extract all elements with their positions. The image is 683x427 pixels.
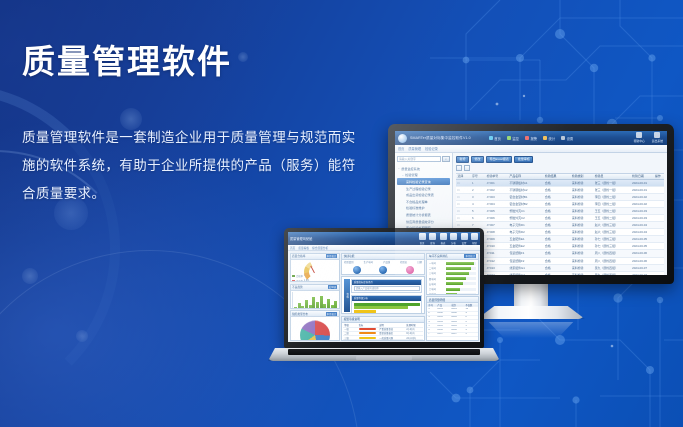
pyramid-chart [353, 302, 420, 315]
logout-label: 退出系统 [652, 139, 663, 143]
table-cell: 王五（质检二组） [593, 216, 630, 220]
table-cell: 铝合金型材B2 [508, 202, 543, 206]
topnav-item-monitor[interactable]: 监控 [507, 136, 519, 141]
table-cell: 合格 [543, 216, 570, 220]
trend-bars [294, 292, 337, 309]
table-cell: □ [456, 181, 471, 185]
tree-item-supplier-score[interactable]: 供应商质量绩效评分 [397, 218, 450, 225]
dashboard-right-column: 车间不良率排名 本月统计 一车间二车间三车间四车间五车间六车间七车间八车间九车间… [426, 253, 478, 341]
bar-row: 三车间 [429, 271, 476, 275]
batch-approve-button[interactable]: 批量审核 [514, 156, 533, 163]
table-cell: 2024-03-06 [631, 251, 654, 255]
table-cell: 来料检验 [570, 216, 593, 220]
table-cell: 赵六（质检三组） [593, 223, 630, 227]
table-cell: 9 [464, 312, 477, 314]
pyramid-band [354, 310, 376, 313]
table-cell: 2024-03-06 [631, 259, 654, 263]
card-chip[interactable]: 本月统计 [464, 254, 476, 258]
logout-icon [654, 132, 660, 138]
monitor-stand-base [477, 306, 585, 319]
report-icon [440, 233, 447, 240]
table-cell: 五金配件E2 [508, 244, 543, 248]
bar-track [446, 277, 476, 280]
table-cell: 来料检验 [570, 195, 593, 199]
table-cell: 合格 [543, 209, 570, 213]
table-row[interactable]: □1JY001不锈钢板材A1合格来料检验张三（质检一组）2024-03-01 [456, 180, 664, 187]
topnav-item-home[interactable]: 首页 [489, 136, 501, 141]
column-header: 检验结果 [543, 174, 570, 178]
table-cell: 不锈钢板材A2 [508, 188, 543, 192]
monitor-icon [507, 136, 511, 140]
table-row[interactable]: □13JY013线束组件G1合格来料检验吴九（质检四组）2024-03-07 [456, 265, 664, 272]
table-cell [358, 332, 379, 334]
dashboard-topbar: 质量管理驾驶舱 首页 查询 报表 [288, 232, 480, 245]
tree-item-incoming-inspection[interactable]: 来料检验记录查询 [397, 178, 450, 185]
laptop-lid: 质量管理驾驶舱 首页 查询 报表 [284, 228, 484, 348]
pyramid-band [354, 306, 408, 309]
table-cell: B004 [450, 321, 464, 323]
desktop-app-topright: 帮助中心 退出系统 [634, 132, 663, 143]
laptop: 质量管理驾驶舱 首页 查询 报表 [284, 228, 484, 361]
sidebar-search: 请输入关键字 ⌕ [397, 156, 450, 162]
topnav-item-stats[interactable]: 统计 [543, 136, 555, 141]
legend-label: 不良率 [296, 279, 303, 283]
table-cell: 线束组件G2 [508, 273, 543, 275]
column-header: 操作 [654, 174, 664, 178]
bar-track [446, 272, 476, 275]
card-defect-trend: 不良趋势 近30天 [290, 284, 340, 309]
bar-fill [446, 288, 460, 291]
table-cell: JY012 [485, 259, 508, 263]
table-cell: 铝合金型材B1 [508, 195, 543, 199]
quick-button-finished[interactable]: 成品检验 [405, 266, 415, 275]
tree-item-quality-system[interactable]: − 质量监控系统 [397, 165, 450, 172]
bar [298, 303, 301, 308]
gauge-chart [304, 261, 326, 273]
bar-label: 五车间 [429, 282, 445, 286]
table-cell: 2024-03-02 [631, 202, 654, 206]
bar-fill [446, 262, 474, 265]
table-cell: 来料检验 [570, 237, 593, 241]
table-cell: 张三（质检一组） [593, 188, 630, 192]
dashboard-home-button[interactable]: 首页 [419, 233, 426, 245]
table-cell: 李四（质检二组） [593, 195, 630, 199]
tree-item-nonconforming[interactable]: 不合格品处理单 [397, 198, 450, 205]
desktop-app-title: SMARTer质量对标集中监控软件V1.0 [410, 136, 471, 141]
tree-item-label: 生产过程检验记录 [406, 186, 431, 191]
bar [305, 300, 308, 309]
dashboard-left-column: 质量合格率 本月统计 [290, 253, 340, 341]
tree-item-label: 来料检验记录查询 [406, 179, 431, 184]
table-row[interactable]: □2JY002不锈钢板材A2合格来料检验张三（质检一组）2024-03-01 [456, 187, 664, 194]
table-cell: 线束组件G1 [508, 266, 543, 270]
column-header: 检验日期 [631, 174, 654, 178]
bar [316, 302, 319, 309]
export-excel-button[interactable]: 导出Excel报表 [486, 156, 512, 163]
table-cell: 来料检验 [570, 244, 593, 248]
table-cell: 2 [427, 312, 436, 314]
table-cell: 3 [427, 316, 436, 318]
topnav-label: 统计 [549, 136, 556, 141]
alarm-level-table: 等级 色标 说明 处理时限 一级严重质量事故2小时内二级重要质量偏差8小时内三级… [343, 323, 423, 340]
table-cell: 五金配件E1 [508, 237, 543, 241]
dashboard-help-button[interactable]: 帮助 [471, 233, 478, 245]
table-cell: 吴九（质检四组） [593, 273, 630, 275]
table-cell: B007 [450, 333, 464, 335]
tree-item-label: 质量统计分析报表 [406, 212, 431, 217]
tree-item-label: 成品出货检验记录表 [406, 192, 434, 197]
table-cell: □ [456, 188, 471, 192]
table-cell: □ [456, 202, 471, 206]
card-chip[interactable]: 本月统计 [326, 254, 338, 258]
table-cell: JY003 [485, 195, 508, 199]
quick-button-process[interactable]: 过程检验 [378, 266, 388, 275]
table-cell: 合格 [543, 273, 570, 275]
edit-button[interactable]: 修改 [471, 156, 484, 163]
table-cell: B001 [450, 308, 464, 310]
table-cell: 来料检验 [570, 209, 593, 213]
table-cell: 来料检验 [570, 266, 593, 270]
bar-row: 五车间 [429, 282, 476, 286]
horizontal-bar-chart: 一车间二车间三车间四车间五车间六车间七车间八车间九车间 [429, 261, 476, 295]
table-row[interactable]: □14JY014线束组件G2合格来料检验吴九（质检四组）2024-03-07 [456, 272, 664, 275]
table-cell: 来料检验 [570, 202, 593, 206]
table-cell: 合格 [543, 244, 570, 248]
table-cell: 7 [471, 223, 486, 227]
card-title: 报警等级说明 [344, 317, 360, 321]
bar [334, 301, 337, 308]
query-submit-button[interactable]: 查询 [412, 313, 420, 315]
table-cell: 2024-03-01 [631, 188, 654, 192]
laptop-keyboard[interactable] [288, 349, 480, 355]
tree-item-standards[interactable]: 检验标准维护 [397, 205, 450, 212]
color-swatch [359, 332, 377, 334]
table-cell: JY010 [485, 244, 508, 248]
product-search-input[interactable]: 请输入产品编号或名称 [354, 286, 420, 291]
table-cell: JY011 [485, 251, 508, 255]
table-cell: 包装纸箱F2 [508, 259, 543, 263]
legend-label: 合格率 [296, 274, 303, 278]
table-cell: 1 [471, 181, 486, 185]
breadcrumb-item[interactable]: 检验记录 [425, 146, 438, 151]
card-title: 质量合格率 [292, 254, 305, 258]
table-cell: 合格 [543, 195, 570, 199]
help-center-button[interactable]: 帮助中心 [634, 132, 645, 143]
filter-chip[interactable]: 日期 [417, 260, 422, 264]
bar [312, 297, 315, 308]
table-cell: JY002 [485, 188, 508, 192]
table-row[interactable]: 7A107B0073 [427, 333, 477, 337]
monitor-neck [514, 284, 548, 306]
color-swatch [359, 328, 377, 330]
table-cell: 来料检验 [570, 259, 593, 263]
bar-track [446, 267, 476, 270]
pyramid-panel: 质量等级分布 查询 [351, 295, 422, 315]
table-cell: 合格 [543, 266, 570, 270]
column-header: 序号 [427, 303, 436, 307]
card-defect-distribution: 缺陷类型分布 本月统计 外观缺陷32%尺寸偏差26%功能异常18%包装问题14%… [290, 310, 340, 340]
bar-row: 二车间 [429, 266, 476, 270]
dashboard-icon-row: 首页 查询 报表 分析 [419, 233, 479, 245]
dashboard-middle-column: 快捷功能 检验类别 生产车间 产品线 检验员 日期 [341, 253, 425, 341]
home-icon [489, 136, 493, 140]
analysis-icon [450, 233, 457, 240]
column-header: 产品名称 [508, 174, 543, 178]
table-cell: 合格 [543, 188, 570, 192]
bar [301, 306, 304, 309]
process-icon [379, 266, 387, 274]
table-row[interactable]: □3JY003铝合金型材B1合格来料检验李四（质检二组）2024-03-02 [456, 194, 664, 201]
table-cell: 合格 [543, 202, 570, 206]
table-cell: 2024-03-04 [631, 230, 654, 234]
search-icon[interactable]: ⌕ [442, 156, 450, 162]
table-cell: □ [456, 209, 471, 213]
table-row[interactable]: □12JY012包装纸箱F2合格来料检验周八（质检四组）2024-03-06 [456, 258, 664, 265]
table-cell: 2024-03-03 [631, 216, 654, 220]
table-cell: B003 [450, 316, 464, 318]
laptop-trackpad[interactable] [356, 356, 412, 360]
table-row[interactable]: □9JY009五金配件E1合格来料检验孙七（质检三组）2024-03-05 [456, 236, 664, 243]
card-quality-pass-rate: 质量合格率 本月统计 [290, 253, 340, 283]
table-cell: A107 [436, 333, 450, 335]
page-title: 质量管理软件 [22, 44, 372, 80]
table-cell: B005 [450, 325, 464, 327]
table-cell: 2024-03-01 [631, 181, 654, 185]
desktop-app-topnav: 首页 监控 报警 统计 [489, 136, 573, 141]
level-side-strip: 等级 [344, 279, 350, 312]
table-row[interactable]: □11JY011包装纸箱F1合格来料检验周八（质检四组）2024-03-06 [456, 250, 664, 257]
card-body: 序号 产品 批次 不良数 1A101B001122A102B00293A103B… [427, 303, 477, 339]
table-cell: 来料检验 [570, 230, 593, 234]
column-header: 不良数 [464, 303, 477, 307]
card-chip[interactable]: 本月统计 [326, 312, 338, 316]
column-header: 检验单号 [485, 174, 508, 178]
table-cell: 合格 [543, 181, 570, 185]
bar [327, 299, 330, 309]
table-row[interactable]: □8JY008电子元件D2合格来料检验赵六（质检三组）2024-03-04 [456, 229, 664, 236]
color-swatch [359, 337, 377, 339]
bar-row: 一车间 [429, 261, 476, 265]
tree-item-statistics[interactable]: 质量统计分析报表 [397, 211, 450, 218]
filter-chip[interactable]: 检验员 [400, 260, 407, 264]
dashboard-report-button[interactable]: 报表 [440, 233, 447, 245]
help-icon [636, 132, 642, 138]
table-cell: 12 [464, 308, 477, 310]
table-cell: 8 [464, 316, 477, 318]
filter-chip[interactable]: 产品线 [383, 260, 390, 264]
table-cell: JY013 [485, 266, 508, 270]
breadcrumb-item[interactable]: 首页 [290, 246, 295, 250]
topnav-label: 报警 [530, 136, 537, 141]
card-body: 等级 色标 说明 处理时限 一级严重质量事故2小时内二级重要质量偏差8小时内三级… [342, 323, 424, 340]
table-row[interactable]: □10JY010五金配件E2合格来料检验孙七（质检三组）2024-03-05 [456, 243, 664, 250]
monitor-reflection [483, 322, 579, 338]
table-cell: 2024-03-07 [631, 273, 654, 275]
column-header: 色标 [358, 323, 379, 327]
checkbox-icon[interactable] [456, 165, 462, 171]
laptop-base [268, 348, 500, 361]
dashboard-settings-button[interactable]: 设置 [461, 233, 468, 245]
filter-chip[interactable]: 生产车间 [364, 260, 373, 264]
table-cell: 6 [464, 321, 477, 323]
table-cell: 周八（质检四组） [593, 251, 630, 255]
query-panel: 质量指标查询条件 请输入产品编号或名称 [351, 279, 422, 294]
icon-label: 设置 [462, 241, 467, 245]
topnav-item-alert[interactable]: 报警 [525, 136, 537, 141]
tree-item-process-inspection[interactable]: 生产过程检验记录 [397, 185, 450, 192]
icon-label: 首页 [420, 241, 425, 245]
bar-row: 四车间 [429, 277, 476, 281]
home-icon [419, 233, 426, 240]
breadcrumb: 首页 质量管理 检验记录 [395, 145, 667, 153]
bar-label: 三车间 [429, 271, 445, 275]
card-chip[interactable]: 近30天 [328, 285, 337, 289]
icon-label: 帮助 [472, 241, 477, 245]
table-cell: JY001 [485, 181, 508, 185]
breadcrumb-item[interactable]: 质量管理 [408, 146, 421, 151]
table-cell: 电子元件D1 [508, 223, 543, 227]
bar-label: 四车间 [429, 277, 445, 281]
pie-chart [300, 320, 330, 340]
column-header: 检验员 [593, 174, 630, 178]
table-cell: 来料检验 [570, 223, 593, 227]
side-strip-label: 等级 [345, 293, 349, 298]
legend-swatch [292, 280, 295, 282]
table-cell: 6 [427, 329, 436, 331]
query-panel-body: 请输入产品编号或名称 [352, 285, 421, 293]
table-cell: 电子元件D2 [508, 230, 543, 234]
table-cell: 来料检验 [570, 251, 593, 255]
table-cell: 2 [471, 188, 486, 192]
table-cell: 5 [471, 209, 486, 213]
bar-row: 六车间 [429, 287, 476, 291]
table-cell: A104 [436, 321, 450, 323]
help-icon [471, 233, 478, 240]
table-cell: JY014 [485, 273, 508, 275]
bar-label: 一车间 [429, 261, 445, 265]
card-alarm-levels: 报警等级说明 等级 色标 说明 处理时限 [341, 316, 425, 341]
column-header: 检验类别 [570, 174, 593, 178]
bar-row: 七车间 [429, 292, 476, 295]
table-cell: A102 [436, 312, 450, 314]
filter-chip[interactable]: 检验类别 [344, 260, 353, 264]
main-content: 新增 修改 导出Excel报表 批量审核 选择 序号 检验单号 [453, 153, 667, 275]
desktop-app-topbar: SMARTer质量对标集中监控软件V1.0 首页 监控 报警 [395, 131, 667, 145]
dashboard-analysis-button[interactable]: 分析 [450, 233, 457, 245]
column-header: 批次 [450, 303, 464, 307]
table-cell: A103 [436, 316, 450, 318]
column-header: 序号 [471, 174, 486, 178]
card-quick-functions: 快捷功能 检验类别 生产车间 产品线 检验员 日期 [341, 253, 425, 275]
table-cell: 合格 [543, 259, 570, 263]
topnav-label: 首页 [494, 136, 501, 141]
card-body [291, 291, 339, 308]
table-cell: JY006 [485, 216, 508, 220]
pyramid-panel-title: 质量等级分布 [354, 296, 368, 300]
table-cell: □ [456, 223, 471, 227]
table-cell: 合格 [543, 223, 570, 227]
bar-label: 二车间 [429, 266, 445, 270]
tree-item-label: 检验标准维护 [406, 205, 425, 210]
table-cell [358, 337, 379, 339]
dashboard-grid: 质量合格率 本月统计 [288, 251, 480, 342]
breadcrumb-item[interactable]: 综合质量分析 [312, 246, 328, 250]
table-header: 序号 产品 批次 不良数 [427, 303, 477, 307]
card-body: 外观缺陷32%尺寸偏差26%功能异常18%包装问题14%其他10% [291, 317, 339, 339]
table-cell: A105 [436, 325, 450, 327]
table-cell: 吴九（质检四组） [593, 266, 630, 270]
icon-label: 报表 [441, 241, 446, 245]
table-cell: B006 [450, 329, 464, 331]
breadcrumb-item[interactable]: 首页 [398, 146, 404, 151]
table-cell: A106 [436, 329, 450, 331]
table-cell: JY005 [485, 209, 508, 213]
table-cell: 来料检验 [570, 188, 593, 192]
table-row[interactable]: □5JY005塑胶外壳C1合格来料检验王五（质检二组）2024-03-03 [456, 208, 664, 215]
tree-item-label: 质量监控系统 [401, 166, 420, 171]
pyramid-band [354, 314, 365, 315]
bar [309, 305, 312, 309]
inbox-icon [353, 266, 361, 274]
table-cell: 2024-03-03 [631, 209, 654, 213]
logout-button[interactable]: 退出系统 [652, 132, 663, 143]
breadcrumb-item[interactable]: 质量看板 [298, 246, 309, 250]
table-cell: 2024-03-05 [631, 244, 654, 248]
bar-track [446, 262, 476, 265]
table-cell: JY004 [485, 202, 508, 206]
globe-logo-icon [398, 134, 407, 143]
tree-item-finished-inspection[interactable]: 成品出货检验记录表 [397, 191, 450, 198]
table-cell: 3 [464, 333, 477, 335]
bar-fill [446, 272, 469, 275]
quick-button-incoming[interactable]: 来料检验 [352, 266, 362, 275]
page-description: 质量管理软件是一套制造企业用于质量管理与规范而实施的软件系统，有助于企业所提供的… [22, 124, 360, 207]
table-cell: 4 [464, 329, 477, 331]
gear-icon [561, 136, 565, 140]
table-cell: 2024-03-05 [631, 237, 654, 241]
table-cell: 赵六（质检三组） [593, 230, 630, 234]
topnav-item-settings[interactable]: 设置 [561, 136, 573, 141]
bar-fill [446, 277, 466, 280]
card-quality-levels: 等级 质量指标查询条件 请输入产品编号或名称 [341, 276, 425, 314]
bar-track [446, 282, 476, 285]
table-cell: A101 [436, 308, 450, 310]
table-row[interactable]: □4JY004铝合金型材B2合格来料检验李四（质检二组）2024-03-02 [456, 201, 664, 208]
table-cell: 3 [471, 195, 486, 199]
table-body: 1A101B001122A102B00293A103B00384A104B004… [427, 307, 477, 336]
table-cell: 1 [427, 308, 436, 310]
icon-label: 查询 [430, 241, 435, 245]
add-button[interactable]: 新增 [456, 156, 469, 163]
table-cell: 2024-03-07 [631, 266, 654, 270]
table-row[interactable]: 三级一般质量问题24小时内 [343, 336, 423, 340]
tree-item-inspection-mgmt[interactable]: − 检验管理 [397, 172, 450, 179]
grid-icon[interactable] [464, 165, 470, 171]
bar [320, 296, 323, 309]
table-cell: 李四（质检二组） [593, 202, 630, 206]
table-cell [358, 328, 379, 330]
table-body: □1JY001不锈钢板材A1合格来料检验张三（质检一组）2024-03-01□2… [456, 180, 664, 276]
table-row[interactable]: □7JY007电子元件D1合格来料检验赵六（质检三组）2024-03-04 [456, 222, 664, 229]
card-title: 不良趋势 [292, 285, 303, 289]
dashboard-search-button[interactable]: 查询 [429, 233, 436, 245]
card-body: 等级 质量指标查询条件 请输入产品编号或名称 [342, 277, 424, 313]
table-row[interactable]: □6JY006塑胶外壳C2合格来料检验王五（质检二组）2024-03-03 [456, 215, 664, 222]
laptop-screen: 质量管理驾驶舱 首页 查询 报表 [288, 232, 480, 342]
bar-label: 六车间 [429, 287, 445, 291]
table-cell: 2024-03-04 [631, 223, 654, 227]
search-input[interactable]: 请输入关键字 [397, 156, 441, 162]
